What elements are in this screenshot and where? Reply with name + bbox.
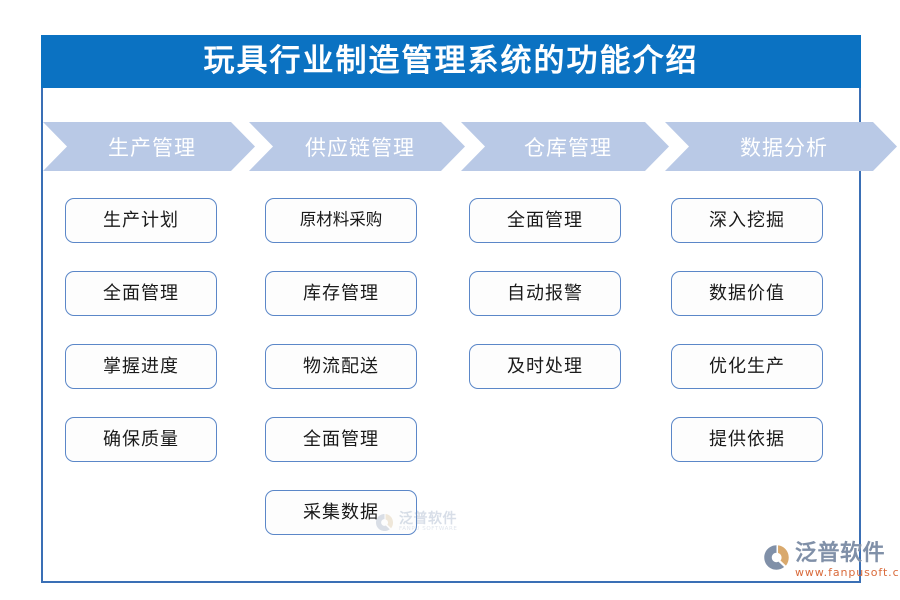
feature-box[interactable]: 数据价值 xyxy=(671,271,823,316)
feature-box[interactable]: 提供依据 xyxy=(671,417,823,462)
column-production-management: 生产计划 全面管理 掌握进度 确保质量 xyxy=(65,198,225,490)
feature-label: 全面管理 xyxy=(507,212,583,230)
feature-label: 确保质量 xyxy=(103,431,179,449)
brand-url: www.fanpusoft.com xyxy=(795,567,900,579)
feature-box[interactable]: 采集数据 xyxy=(265,490,417,535)
column-warehouse-management: 全面管理 自动报警 及时处理 xyxy=(469,198,629,417)
title-banner: 玩具行业制造管理系统的功能介绍 xyxy=(41,35,861,88)
feature-box[interactable]: 及时处理 xyxy=(469,344,621,389)
column-supply-chain-management: 原材料采购 库存管理 物流配送 全面管理 采集数据 xyxy=(265,198,425,563)
feature-label: 库存管理 xyxy=(303,285,379,303)
brand-name-cn: 泛普软件 xyxy=(795,542,900,566)
chevron-stage-1[interactable]: 生产管理 xyxy=(43,122,255,171)
page-title: 玩具行业制造管理系统的功能介绍 xyxy=(204,46,699,77)
feature-label: 生产计划 xyxy=(103,212,179,230)
chevron-label: 生产管理 xyxy=(43,132,255,162)
feature-label: 采集数据 xyxy=(303,504,379,522)
feature-box[interactable]: 深入挖掘 xyxy=(671,198,823,243)
feature-label: 掌握进度 xyxy=(103,358,179,376)
feature-label: 数据价值 xyxy=(709,285,785,303)
chevron-stage-4[interactable]: 数据分析 xyxy=(665,122,897,171)
feature-box[interactable]: 自动报警 xyxy=(469,271,621,316)
feature-label: 全面管理 xyxy=(303,431,379,449)
column-data-analysis: 深入挖掘 数据价值 优化生产 提供依据 xyxy=(671,198,831,490)
feature-label: 提供依据 xyxy=(709,431,785,449)
feature-box[interactable]: 物流配送 xyxy=(265,344,417,389)
feature-box[interactable]: 掌握进度 xyxy=(65,344,217,389)
feature-box[interactable]: 优化生产 xyxy=(671,344,823,389)
feature-label: 原材料采购 xyxy=(300,212,383,229)
feature-label: 及时处理 xyxy=(507,358,583,376)
feature-label: 自动报警 xyxy=(507,285,583,303)
brand-logo: 泛普软件 www.fanpusoft.com xyxy=(762,542,894,590)
chevron-label: 数据分析 xyxy=(665,132,897,162)
brand-logo-text: 泛普软件 www.fanpusoft.com xyxy=(795,542,900,579)
chevron-label: 仓库管理 xyxy=(461,132,669,162)
feature-label: 优化生产 xyxy=(709,358,785,376)
feature-columns: 生产计划 全面管理 掌握进度 确保质量 原材料采购 库存管理 物流配送 全面管理… xyxy=(41,198,861,538)
feature-box[interactable]: 全面管理 xyxy=(65,271,217,316)
chevron-stage-3[interactable]: 仓库管理 xyxy=(461,122,669,171)
feature-box[interactable]: 全面管理 xyxy=(469,198,621,243)
feature-label: 物流配送 xyxy=(303,358,379,376)
feature-label: 全面管理 xyxy=(103,285,179,303)
process-chevron-row: 生产管理 供应链管理 仓库管理 数据分析 xyxy=(41,122,861,171)
chevron-label: 供应链管理 xyxy=(249,132,465,162)
feature-box[interactable]: 全面管理 xyxy=(265,417,417,462)
fanpu-logo-icon xyxy=(762,543,791,572)
feature-box[interactable]: 生产计划 xyxy=(65,198,217,243)
chevron-stage-2[interactable]: 供应链管理 xyxy=(249,122,465,171)
feature-box[interactable]: 确保质量 xyxy=(65,417,217,462)
feature-label: 深入挖掘 xyxy=(709,212,785,230)
feature-box[interactable]: 库存管理 xyxy=(265,271,417,316)
feature-box[interactable]: 原材料采购 xyxy=(265,198,417,243)
